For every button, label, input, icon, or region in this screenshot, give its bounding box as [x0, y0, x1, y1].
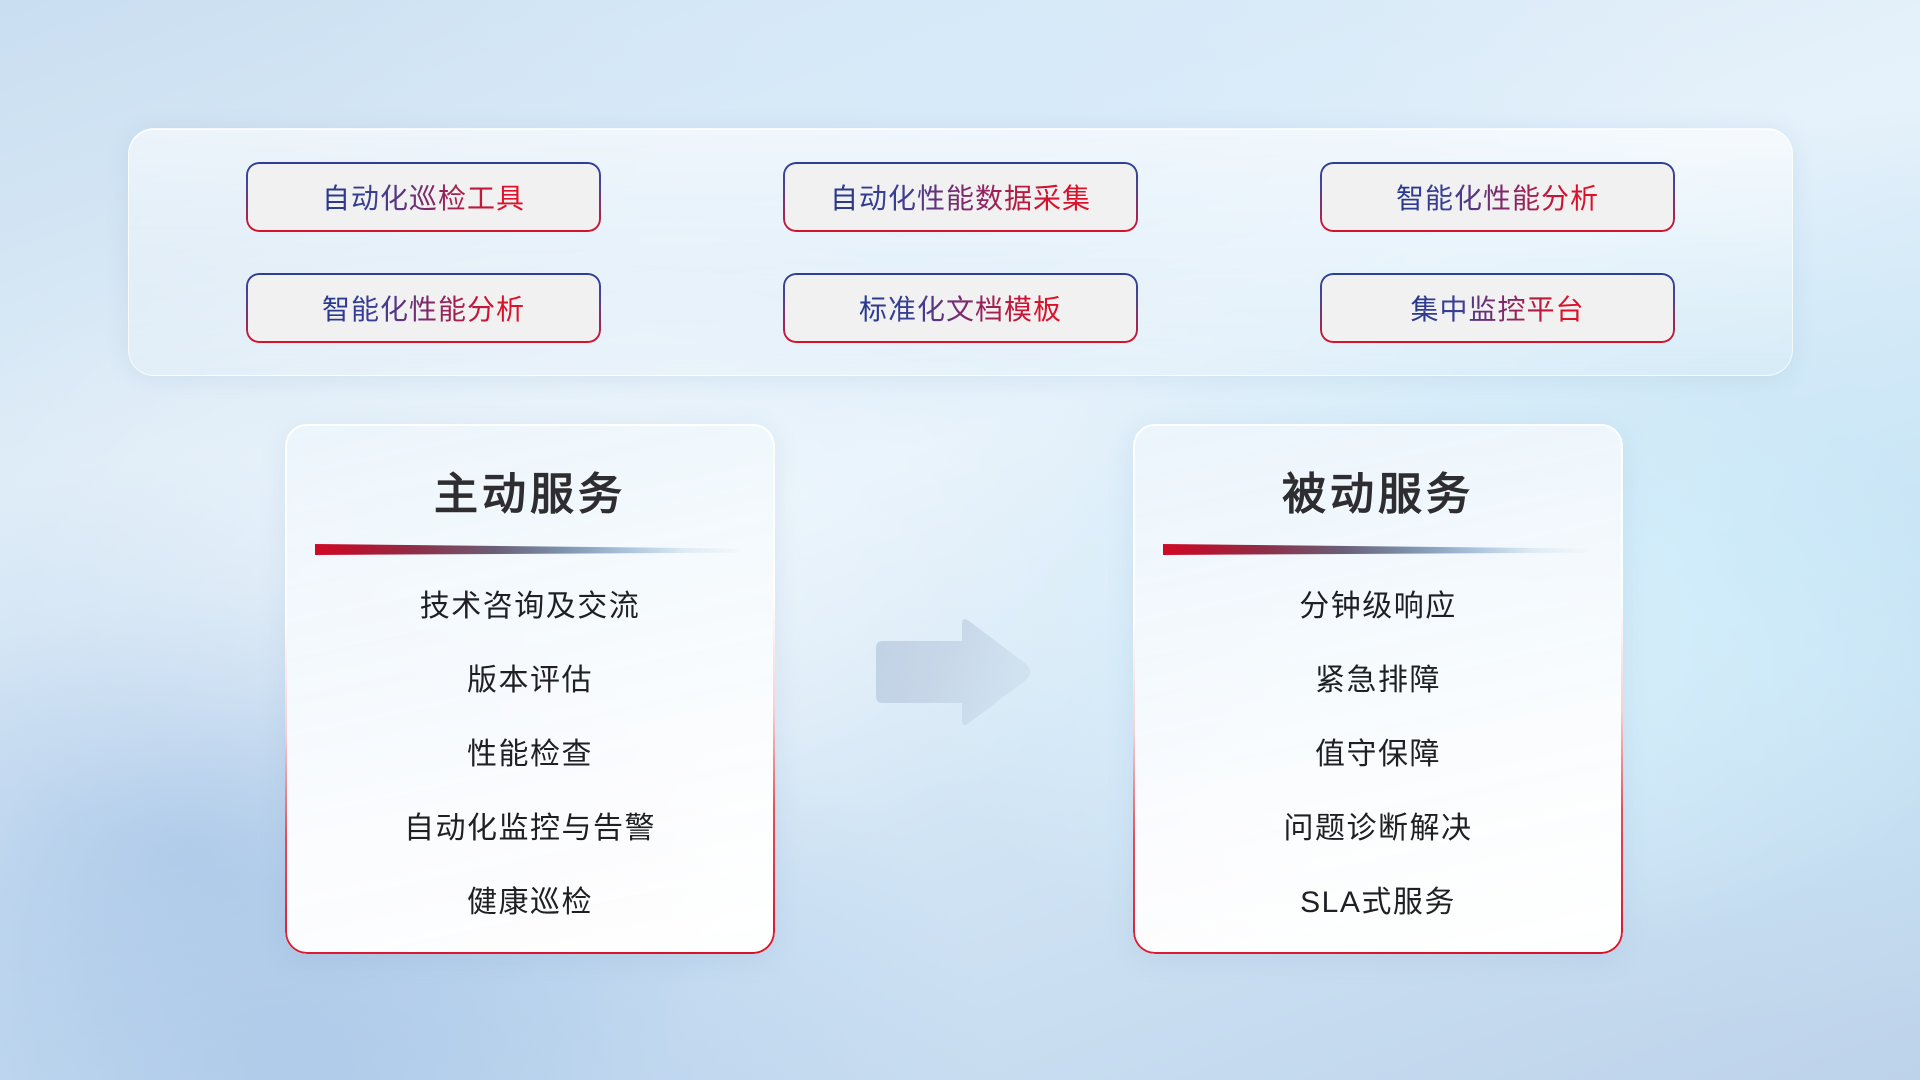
capabilities-panel: 自动化巡检工具 自动化性能数据采集 智能化性能分析 智能化性能分析 标准化文档模… — [128, 128, 1793, 376]
list-item: 性能检查 — [467, 729, 593, 773]
card-title: 主动服务 — [434, 458, 626, 522]
list-item: 技术咨询及交流 — [420, 581, 641, 625]
card-divider — [315, 544, 745, 555]
list-item: 分钟级响应 — [1299, 581, 1457, 625]
capability-pill-3[interactable]: 智能化性能分析 — [1320, 162, 1675, 232]
capability-pill-1[interactable]: 自动化巡检工具 — [246, 162, 601, 232]
capability-pill-6[interactable]: 集中监控平台 — [1320, 273, 1675, 343]
capability-pill-label: 智能化性能分析 — [322, 288, 525, 328]
list-item: 健康巡检 — [467, 877, 593, 921]
card-title: 被动服务 — [1282, 458, 1474, 522]
capability-pill-label: 集中监控平台 — [1410, 288, 1584, 328]
capability-pill-label: 自动化性能数据采集 — [830, 177, 1091, 217]
arrow-right-icon — [866, 614, 1034, 730]
list-item: SLA式服务 — [1300, 877, 1456, 921]
list-item: 版本评估 — [467, 655, 593, 699]
list-item: 自动化监控与告警 — [404, 803, 656, 847]
card-divider — [1163, 544, 1593, 555]
capability-pill-label: 智能化性能分析 — [1396, 177, 1599, 217]
list-item: 值守保障 — [1315, 729, 1441, 773]
list-item: 紧急排障 — [1315, 655, 1441, 699]
capability-pill-5[interactable]: 标准化文档模板 — [783, 273, 1138, 343]
capability-pill-label: 自动化巡检工具 — [322, 177, 525, 217]
capability-pill-4[interactable]: 智能化性能分析 — [246, 273, 601, 343]
capability-pill-2[interactable]: 自动化性能数据采集 — [783, 162, 1138, 232]
service-card-proactive: 主动服务 技术咨询及交流 版本评估 性能检查 自动化监控与告警 健康巡检 — [285, 424, 775, 954]
card-item-list: 分钟级响应 紧急排障 值守保障 问题诊断解决 SLA式服务 — [1163, 581, 1593, 921]
service-card-reactive: 被动服务 分钟级响应 紧急排障 值守保障 问题诊断解决 SLA式服务 — [1133, 424, 1623, 954]
capability-pill-label: 标准化文档模板 — [859, 288, 1062, 328]
slide-canvas: 自动化巡检工具 自动化性能数据采集 智能化性能分析 智能化性能分析 标准化文档模… — [0, 0, 1920, 1080]
card-item-list: 技术咨询及交流 版本评估 性能检查 自动化监控与告警 健康巡检 — [315, 581, 745, 921]
list-item: 问题诊断解决 — [1284, 803, 1473, 847]
